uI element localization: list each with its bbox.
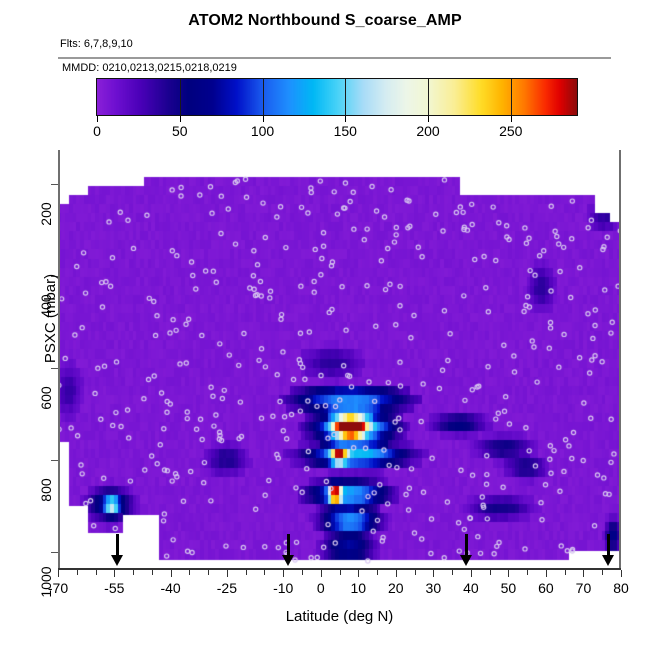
x-axis-tick [546, 570, 547, 577]
x-axis-tick [227, 570, 228, 577]
x-axis-tick-label: -40 [141, 580, 201, 596]
colorbar-tick-label: 200 [398, 123, 458, 139]
colorbar-divider [180, 79, 181, 115]
x-axis-tick [189, 570, 190, 575]
x-axis-tick [58, 570, 59, 577]
x-axis-tick [152, 570, 153, 575]
x-axis-tick [208, 570, 209, 575]
header-divider [58, 57, 611, 59]
x-axis-tick [527, 570, 528, 575]
plot-right-border [619, 150, 621, 568]
x-axis-tick [602, 570, 603, 575]
colorbar-tick-label: 250 [481, 123, 541, 139]
y-axis-tick-label: 600 [38, 368, 54, 428]
x-axis-tick [340, 570, 341, 575]
colorbar: 050100150200250 [0, 78, 650, 148]
y-axis-tick-label: 200 [38, 184, 54, 244]
x-axis-tick [415, 570, 416, 575]
x-axis-tick [133, 570, 134, 575]
x-axis-tick [490, 570, 491, 575]
x-axis-tick [377, 570, 378, 575]
colorbar-tick [428, 116, 429, 122]
x-axis-tick [471, 570, 472, 577]
colorbar-tick-label: 50 [150, 123, 210, 139]
colorbar-divider [511, 79, 512, 115]
colorbar-tick-label: 0 [67, 123, 127, 139]
x-axis-tick-label: 80 [591, 580, 650, 596]
x-axis-tick [77, 570, 78, 575]
x-axis-tick [621, 570, 622, 577]
colorbar-gradient [96, 78, 578, 116]
x-axis-tick [565, 570, 566, 575]
page-title: ATOM2 Northbound S_coarse_AMP [0, 12, 650, 30]
x-axis-tick-label: -55 [84, 580, 144, 596]
heatmap-image [58, 150, 621, 568]
x-axis-label: Latitude (deg N) [58, 608, 621, 625]
y-axis-tick-label: 800 [38, 460, 54, 520]
heatmap-plot: 2004006008001000 PSXC (mbar) -70-55-40-2… [58, 150, 621, 568]
colorbar-divider [428, 79, 429, 115]
colorbar-tick-label: 150 [315, 123, 375, 139]
x-axis-tick [171, 570, 172, 577]
colorbar-tick [511, 116, 512, 122]
flights-label: Flts: 6,7,8,9,10 [60, 38, 133, 50]
x-axis-tick [508, 570, 509, 577]
x-axis-tick [583, 570, 584, 577]
x-axis-tick [302, 570, 303, 575]
x-axis-tick [452, 570, 453, 575]
colorbar-divider [263, 79, 264, 115]
colorbar-tick [345, 116, 346, 122]
colorbar-tick [263, 116, 264, 122]
colorbar-tick-label: 100 [233, 123, 293, 139]
x-axis-tick [246, 570, 247, 575]
colorbar-tick [97, 116, 98, 122]
x-axis-tick [358, 570, 359, 577]
x-axis-tick [433, 570, 434, 577]
x-axis-tick-label: -25 [197, 580, 257, 596]
x-axis-tick [264, 570, 265, 575]
colorbar-divider [345, 79, 346, 115]
colorbar-tick [180, 116, 181, 122]
y-axis-label: PSXC (mbar) [42, 274, 59, 363]
x-axis-tick [283, 570, 284, 577]
mmdd-label: MMDD: 0210,0213,0215,0218,0219 [62, 62, 237, 74]
x-axis-tick [96, 570, 97, 575]
x-axis-tick [321, 570, 322, 577]
x-axis-tick-label: -70 [28, 580, 88, 596]
x-axis-tick [396, 570, 397, 577]
x-axis-tick [114, 570, 115, 577]
